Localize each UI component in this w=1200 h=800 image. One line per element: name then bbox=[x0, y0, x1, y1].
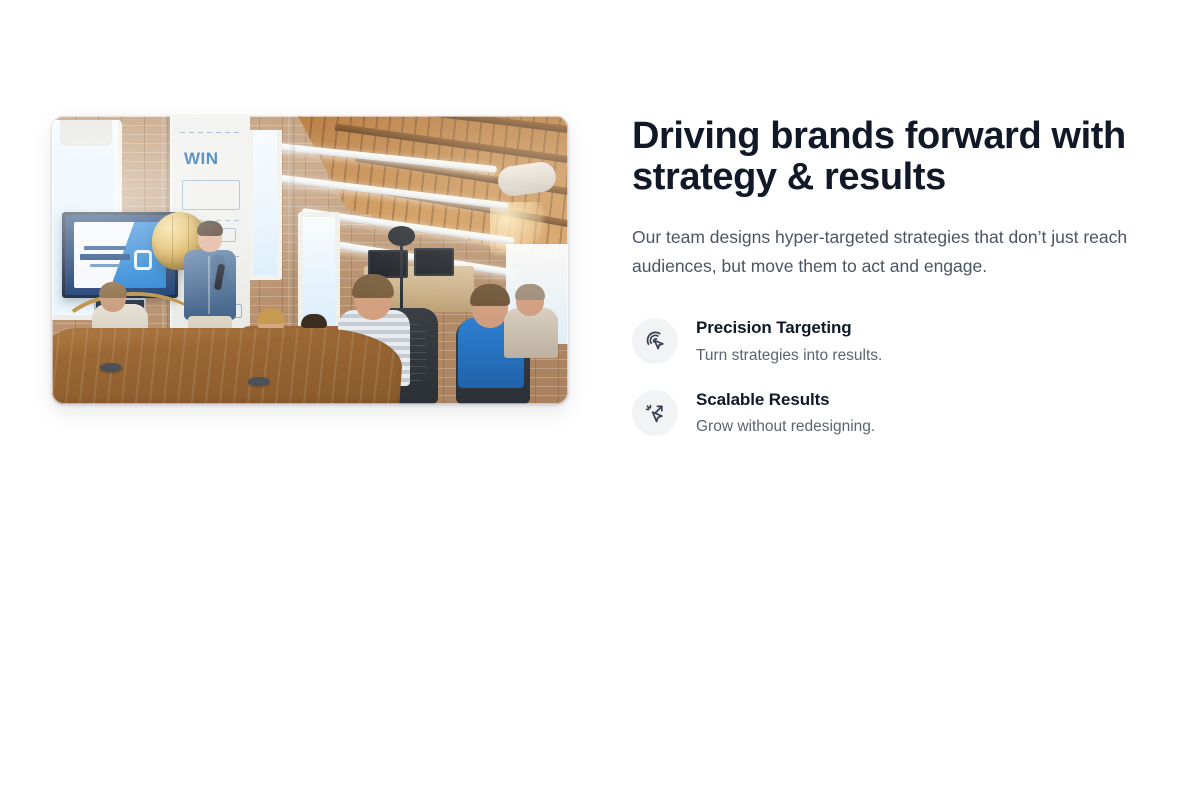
section-subheading: Our team designs hyper-targeted strategi… bbox=[632, 223, 1148, 280]
feature-title: Precision Targeting bbox=[696, 317, 882, 338]
cursor-sparkle-icon bbox=[632, 390, 678, 436]
page-root: WIN bbox=[0, 0, 1200, 800]
feature-section: WIN bbox=[52, 116, 1148, 437]
background-monitor bbox=[414, 248, 454, 276]
mural-win-text: WIN bbox=[184, 150, 219, 167]
feature-description: Turn strategies into results. bbox=[696, 346, 882, 366]
feature-title: Scalable Results bbox=[696, 389, 875, 410]
feature-list: Precision Targeting Turn strategies into… bbox=[632, 316, 1148, 437]
content-column: Driving brands forward with strategy & r… bbox=[632, 116, 1148, 437]
window-middle bbox=[248, 130, 282, 280]
photo-scene: WIN bbox=[52, 116, 568, 404]
feature-text: Scalable Results Grow without redesignin… bbox=[696, 388, 875, 437]
feature-description: Grow without redesigning. bbox=[696, 417, 875, 437]
feature-text: Precision Targeting Turn strategies into… bbox=[696, 316, 882, 365]
slide-logo-mark bbox=[134, 250, 152, 270]
table-speaker-puck bbox=[100, 363, 122, 372]
media-column: WIN bbox=[52, 116, 568, 404]
table-speaker-puck bbox=[248, 377, 270, 386]
feature-item-precision-targeting: Precision Targeting Turn strategies into… bbox=[632, 316, 1148, 365]
page-title: Driving brands forward with strategy & r… bbox=[632, 116, 1132, 197]
audience-person bbox=[504, 286, 558, 358]
office-meeting-photo: WIN bbox=[52, 116, 568, 404]
cursor-click-icon bbox=[632, 318, 678, 364]
feature-item-scalable-results: Scalable Results Grow without redesignin… bbox=[632, 388, 1148, 437]
